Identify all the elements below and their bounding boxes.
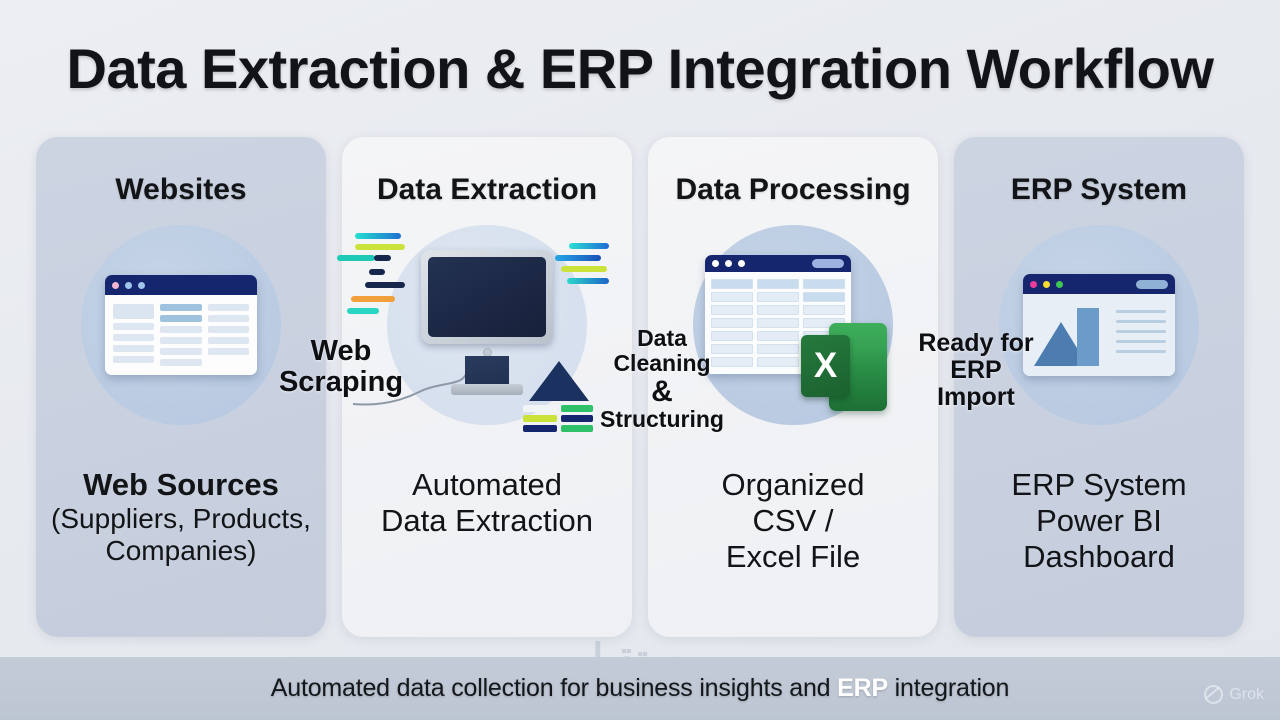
code-snippet-cluster-right — [555, 243, 635, 313]
content-line — [160, 326, 201, 333]
code-bar — [351, 296, 395, 302]
sheet-cell — [711, 292, 753, 302]
panel-caption-websites: Web Sources (Suppliers, Products, Compan… — [36, 467, 326, 568]
caption-line: ERP System — [954, 467, 1244, 503]
caption-line: Power BI — [954, 503, 1244, 539]
site-column-middle — [160, 304, 201, 366]
dashboard-text-lines — [1116, 304, 1166, 366]
connector-line: Scraping — [278, 367, 404, 398]
panel-heading-data-processing: Data Processing — [675, 173, 910, 207]
content-line — [208, 326, 249, 333]
sheet-cell — [803, 305, 845, 315]
site-column-left — [113, 304, 154, 366]
window-address-pill — [1136, 280, 1168, 289]
text-line — [1116, 340, 1166, 343]
content-block — [113, 304, 154, 319]
window-dot-pink — [1030, 281, 1037, 288]
connector-line-amp: & — [586, 376, 738, 408]
connector-line: Ready for — [908, 330, 1044, 357]
monitor-stand-base — [451, 384, 523, 395]
caption-line: (Suppliers, Products, — [36, 503, 326, 535]
site-column-right — [208, 304, 249, 366]
sheet-cell — [757, 357, 799, 367]
connector-line: Web — [278, 336, 404, 367]
code-bar — [337, 255, 375, 261]
panel-websites-illustration — [81, 225, 281, 425]
text-line — [1116, 330, 1166, 333]
sheet-cell — [711, 305, 753, 315]
monitor-stand-neck — [465, 356, 509, 386]
sheet-header-cell — [757, 279, 799, 289]
sheet-cell — [757, 305, 799, 315]
sheet-header-cell — [711, 279, 753, 289]
content-line — [160, 359, 201, 366]
window-dot-blue — [125, 282, 132, 289]
code-bar — [374, 255, 391, 261]
panel-heading-data-extraction: Data Extraction — [377, 173, 597, 207]
text-line — [1116, 320, 1166, 323]
sheet-cell — [757, 318, 799, 328]
grok-logo-icon — [1204, 685, 1223, 704]
panel-heading-websites: Websites — [115, 173, 246, 207]
monitor-screen — [421, 250, 553, 344]
connector-label-ready-for-erp: Ready for ERP Import — [908, 330, 1044, 411]
footer-band: Automated data collection for business i… — [0, 657, 1280, 720]
window-dot-blue-2 — [138, 282, 145, 289]
connector-line: Structuring — [586, 407, 738, 432]
mini-bar — [523, 425, 557, 432]
caption-line: Excel File — [648, 539, 938, 575]
content-line — [208, 337, 249, 344]
footer-caption: Automated data collection for business i… — [271, 674, 1009, 703]
triangle-icon — [529, 361, 589, 401]
caption-line: CSV / — [648, 503, 938, 539]
window-dot-white-3 — [738, 260, 745, 267]
caption-line: Dashboard — [954, 539, 1244, 575]
footer-prefix: Automated data collection for business i… — [271, 674, 837, 702]
code-bar — [561, 266, 607, 272]
page-title: Data Extraction & ERP Integration Workfl… — [0, 36, 1280, 101]
code-bar — [347, 308, 379, 314]
caption-line: Organized — [648, 467, 938, 503]
content-line — [113, 334, 154, 341]
footer-highlight: ERP — [837, 674, 888, 702]
window-dot-green — [1056, 281, 1063, 288]
window-dot-white — [712, 260, 719, 267]
dashboard-window-icon — [1023, 274, 1175, 376]
code-bar — [369, 269, 385, 275]
content-line — [160, 337, 201, 344]
sheet-header-cell — [803, 279, 845, 289]
panel-heading-erp-system: ERP System — [1011, 173, 1187, 207]
panel-caption-erp-system: ERP System Power BI Dashboard — [954, 467, 1244, 575]
caption-bold: Web Sources — [36, 467, 326, 503]
sheet-cell — [757, 344, 799, 354]
code-bar — [355, 244, 405, 250]
code-bar — [355, 233, 401, 239]
browser-content — [105, 295, 257, 375]
content-line — [160, 348, 201, 355]
content-line-highlight — [160, 315, 201, 322]
content-line — [208, 348, 249, 355]
caption-line: Automated — [342, 467, 632, 503]
connector-label-web-scraping: Web Scraping — [278, 336, 404, 399]
text-line — [1116, 350, 1166, 353]
connector-line: ERP — [908, 357, 1044, 384]
caption-line: Companies) — [36, 535, 326, 567]
connector-label-data-cleaning: Data Cleaning & Structuring — [586, 326, 738, 432]
code-bar — [569, 243, 609, 249]
content-line — [208, 304, 249, 311]
content-line — [113, 323, 154, 330]
window-address-pill — [812, 259, 844, 268]
sheet-cell — [757, 292, 799, 302]
content-line — [113, 345, 154, 352]
dashboard-title-bar — [1023, 274, 1175, 294]
window-dot-pink — [112, 282, 119, 289]
spreadsheet-title-bar — [705, 255, 851, 272]
sheet-header-cell — [803, 292, 845, 302]
connector-line: Import — [908, 384, 1044, 411]
grok-label: Grok — [1229, 686, 1264, 704]
content-line — [113, 356, 154, 363]
connector-line: Data Cleaning — [586, 326, 738, 376]
bar-chart-shape — [1077, 308, 1099, 366]
panel-caption-data-extraction: Automated Data Extraction — [342, 467, 632, 539]
excel-logo-x: X — [801, 335, 850, 397]
mini-bar — [523, 415, 557, 422]
browser-title-bar — [105, 275, 257, 295]
window-dot-white-2 — [725, 260, 732, 267]
grok-watermark: Grok — [1204, 685, 1264, 704]
monitor-display — [428, 257, 546, 337]
panel-caption-data-processing: Organized CSV / Excel File — [648, 467, 938, 575]
text-line — [1116, 310, 1166, 313]
excel-logo-icon: X — [801, 319, 887, 411]
sheet-column — [757, 279, 799, 367]
footer-suffix: integration — [888, 674, 1009, 702]
content-line-highlight — [160, 304, 201, 311]
dashboard-content — [1023, 294, 1175, 376]
panel-data-extraction-illustration — [387, 225, 587, 425]
mini-bar — [523, 405, 557, 412]
code-bar — [365, 282, 405, 288]
sheet-cell — [757, 331, 799, 341]
window-dot-yellow — [1043, 281, 1050, 288]
caption-line: Data Extraction — [342, 503, 632, 539]
code-bar — [567, 278, 609, 284]
browser-window-icon — [105, 275, 257, 375]
content-line — [208, 315, 249, 322]
